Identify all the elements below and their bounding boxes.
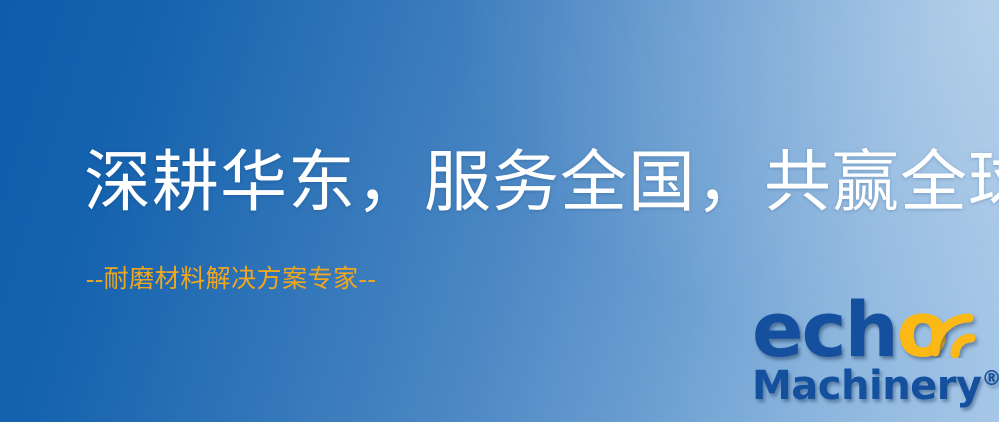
logo-ech-letters: ech bbox=[752, 285, 897, 374]
registered-trademark-icon: ® bbox=[982, 366, 999, 390]
logo-echo-text: echo bbox=[752, 292, 947, 368]
promotional-banner: 深耕华东，服务全国，共赢全球 --耐磨材料解决方案专家-- echo Machi… bbox=[0, 0, 999, 422]
signal-arcs-icon bbox=[926, 292, 999, 358]
logo-machinery-text: Machinery bbox=[752, 363, 982, 409]
company-logo[interactable]: echo Machinery® bbox=[748, 296, 999, 422]
banner-headline: 深耕华东，服务全国，共赢全球 bbox=[84, 150, 999, 217]
logo-tagline: Machinery® bbox=[752, 366, 999, 406]
banner-subtitle: --耐磨材料解决方案专家-- bbox=[86, 267, 376, 292]
